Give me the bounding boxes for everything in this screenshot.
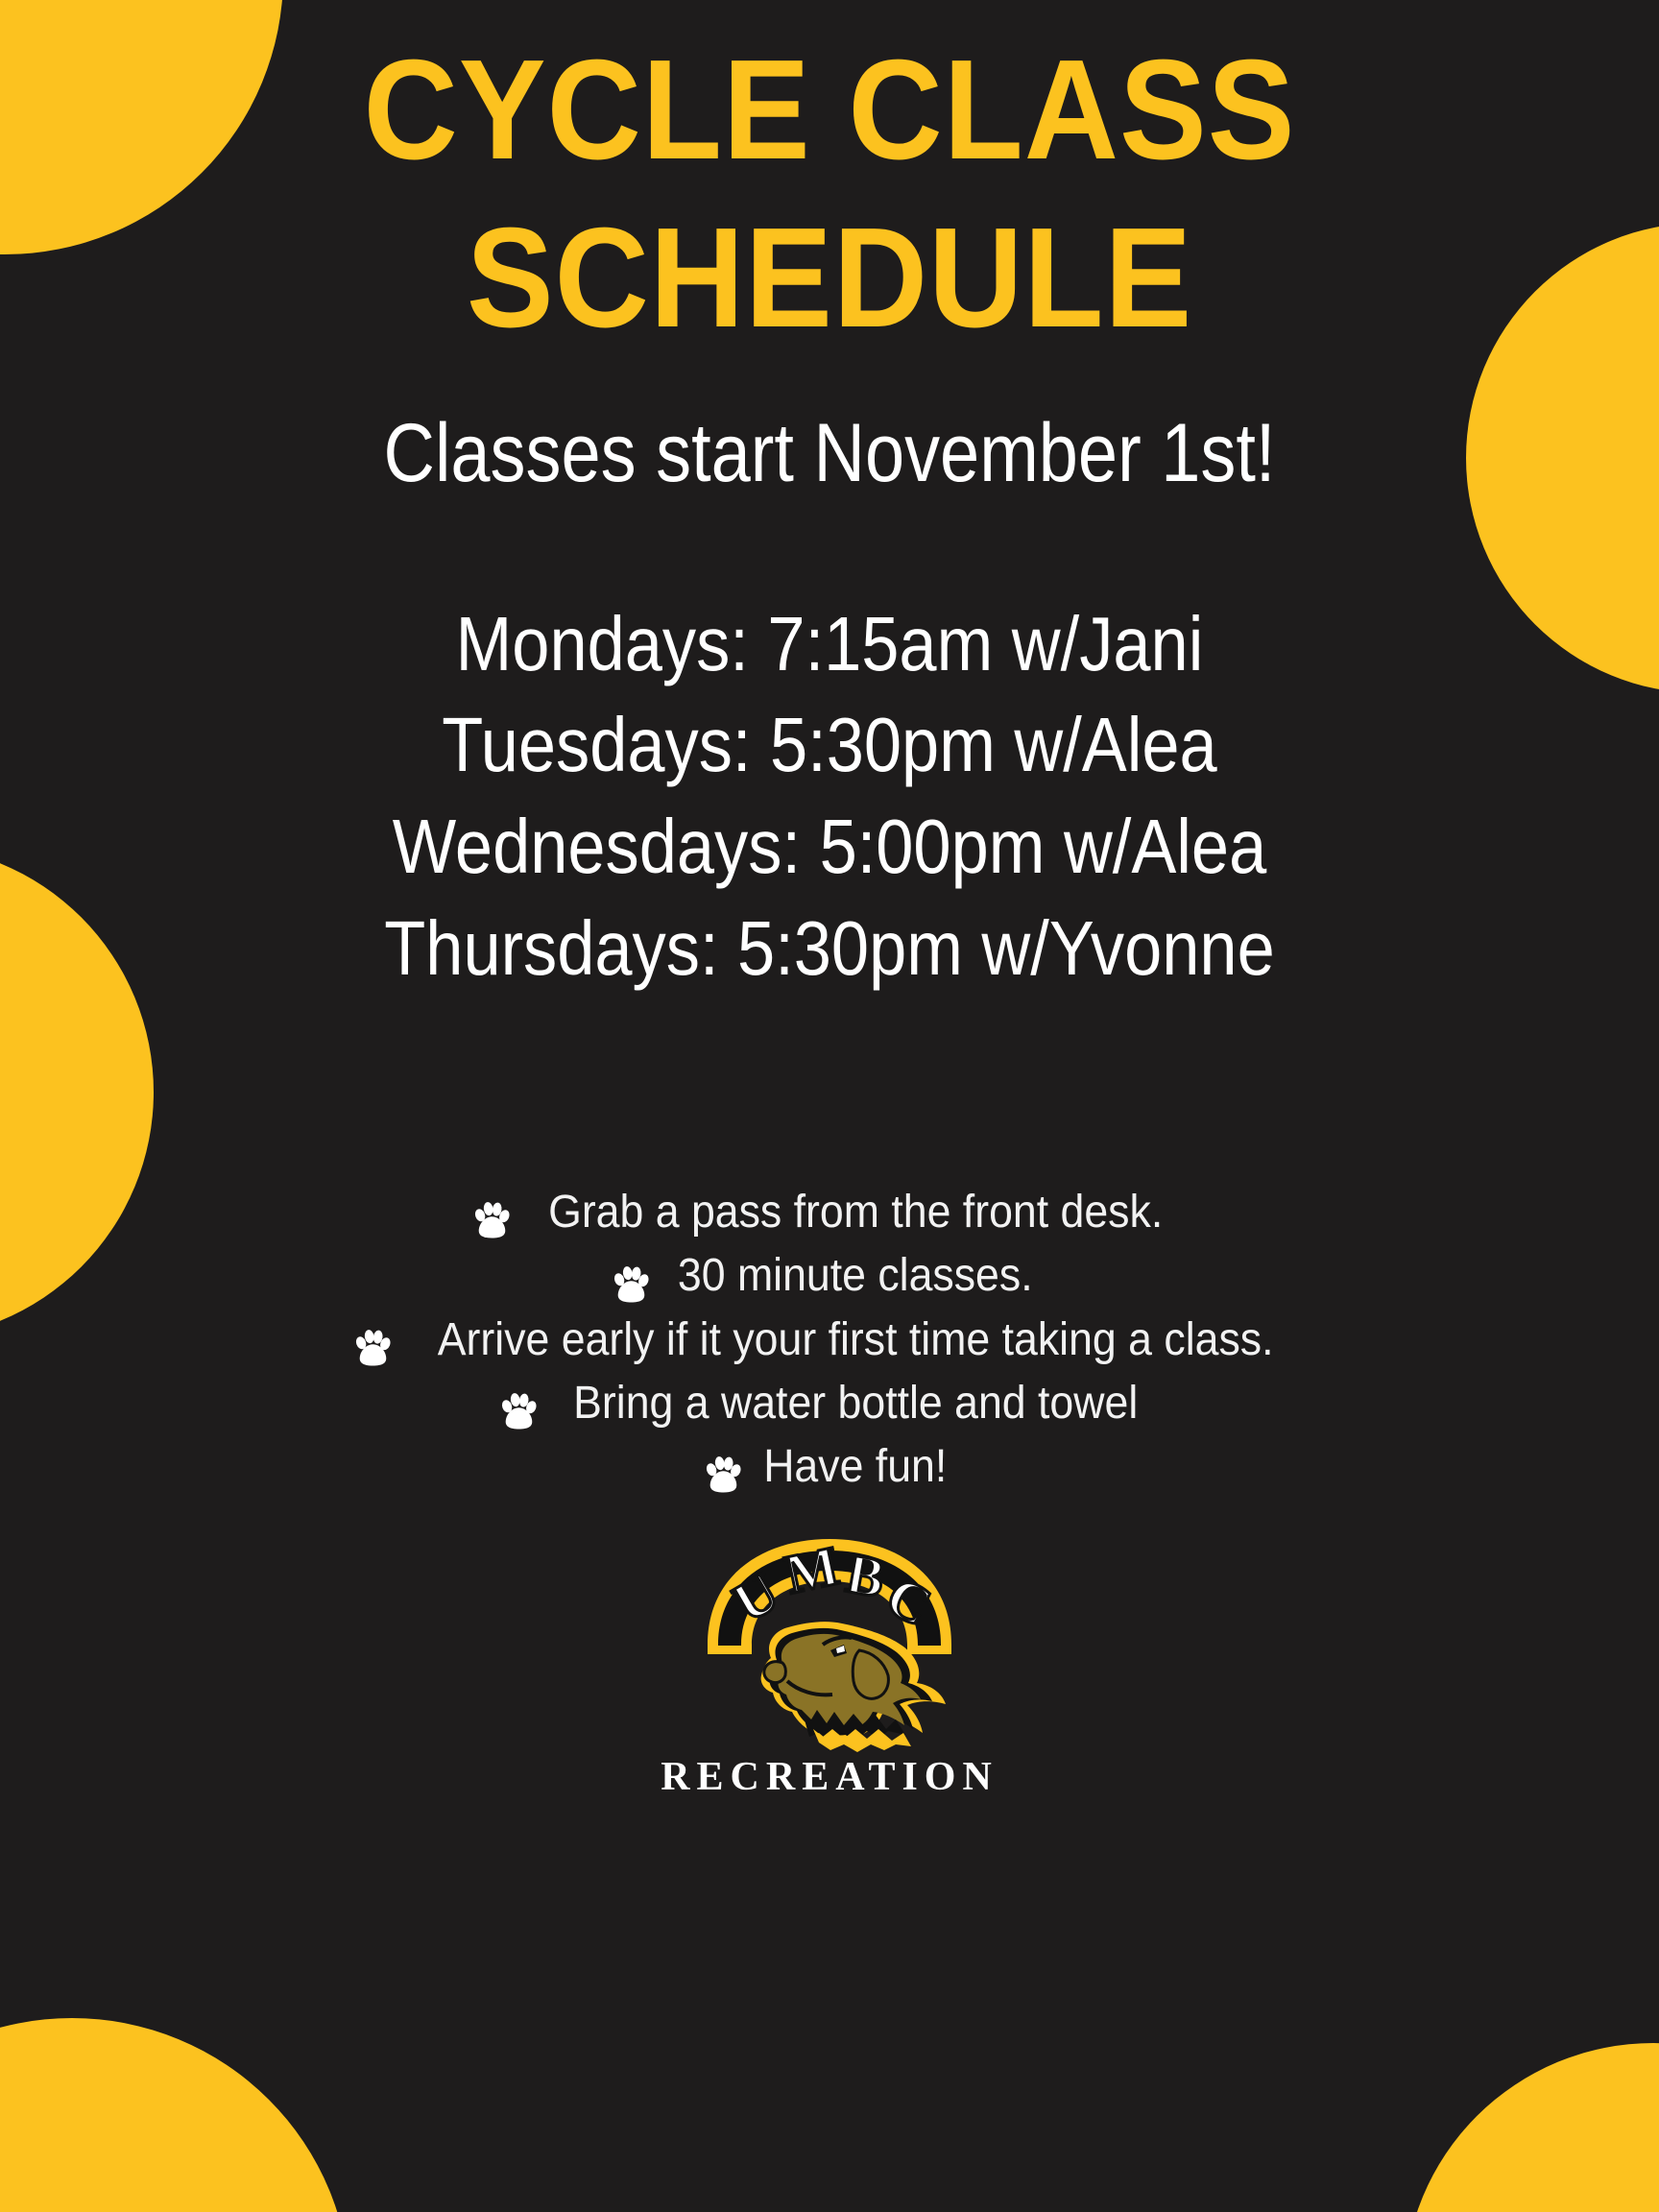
- schedule-list: Mondays: 7:15am w/Jani Tuesdays: 5:30pm …: [0, 593, 1659, 998]
- list-item: Bring a water bottle and towel: [0, 1372, 1659, 1435]
- poster-title: CYCLE CLASS SCHEDULE: [66, 0, 1593, 362]
- list-item: 30 minute classes.: [0, 1244, 1659, 1308]
- paw-print-icon: [473, 1193, 510, 1232]
- poster-canvas: CYCLE CLASS SCHEDULE Classes start Novem…: [0, 0, 1659, 2212]
- paw-print-icon: [705, 1448, 741, 1486]
- umbc-retrievers-logo-icon: U M B C: [690, 1531, 969, 1752]
- notes-list: Grab a pass from the front desk. 30 minu…: [0, 1181, 1659, 1499]
- schedule-row: Mondays: 7:15am w/Jani: [100, 593, 1560, 695]
- note-label: Have fun!: [763, 1435, 947, 1499]
- poster-subtitle: Classes start November 1st!: [116, 408, 1543, 499]
- schedule-row: Tuesdays: 5:30pm w/Alea: [100, 694, 1560, 796]
- note-label: Bring a water bottle and towel: [573, 1372, 1138, 1435]
- list-item: Arrive early if it your first time takin…: [0, 1309, 1659, 1372]
- paw-print-icon: [500, 1384, 537, 1423]
- paw-print-icon: [354, 1321, 391, 1359]
- paw-print-icon: [613, 1258, 649, 1296]
- note-label: 30 minute classes.: [678, 1244, 1033, 1308]
- list-item: Grab a pass from the front desk.: [0, 1181, 1659, 1244]
- note-label: Arrive early if it your first time takin…: [438, 1309, 1274, 1372]
- recreation-wordmark: RECREATION: [661, 1754, 998, 1800]
- note-label: Grab a pass from the front desk.: [548, 1181, 1163, 1244]
- umbc-recreation-logo: U M B C RECREATION: [0, 1531, 1659, 1800]
- schedule-row: Wednesdays: 5:00pm w/Alea: [100, 796, 1560, 898]
- schedule-row: Thursdays: 5:30pm w/Yvonne: [100, 898, 1560, 999]
- list-item: Have fun!: [0, 1435, 1659, 1499]
